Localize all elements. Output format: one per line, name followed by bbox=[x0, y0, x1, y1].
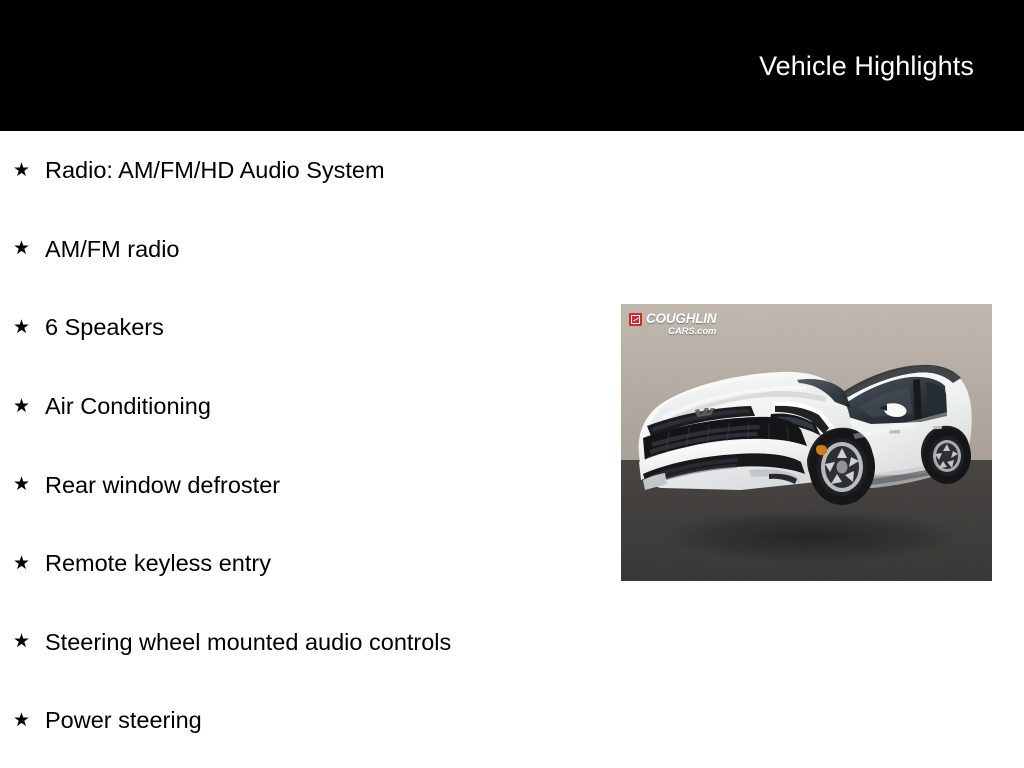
star-bullet-icon: ★ bbox=[13, 554, 45, 573]
star-bullet-icon: ★ bbox=[13, 711, 45, 730]
list-item-label: Rear window defroster bbox=[45, 471, 280, 499]
list-item-label: AM/FM radio bbox=[45, 235, 180, 263]
vehicle-photo-image bbox=[621, 304, 992, 581]
star-bullet-icon: ★ bbox=[13, 318, 45, 337]
star-bullet-icon: ★ bbox=[13, 475, 45, 494]
star-bullet-icon: ★ bbox=[13, 632, 45, 651]
list-item: ★ Radio: AM/FM/HD Audio System bbox=[0, 131, 620, 210]
star-bullet-icon: ★ bbox=[13, 397, 45, 416]
list-item: ★ AM/FM radio bbox=[0, 210, 620, 289]
list-item: ★ Power steering bbox=[0, 681, 620, 760]
list-item: ★ Remote keyless entry bbox=[0, 524, 620, 603]
vehicle-photo: COUGHLIN CARS.com bbox=[621, 304, 992, 581]
star-bullet-icon: ★ bbox=[13, 161, 45, 180]
list-item-label: Radio: AM/FM/HD Audio System bbox=[45, 156, 385, 184]
star-bullet-icon: ★ bbox=[13, 239, 45, 258]
vehicle-highlights-list: ★ Radio: AM/FM/HD Audio System ★ AM/FM r… bbox=[0, 131, 620, 760]
list-item: ★ Steering wheel mounted audio controls bbox=[0, 603, 620, 682]
list-item-label: Remote keyless entry bbox=[45, 549, 271, 577]
header-bar: Vehicle Highlights bbox=[0, 0, 1024, 131]
list-item: ★ Rear window defroster bbox=[0, 445, 620, 524]
page-title: Vehicle Highlights bbox=[759, 50, 974, 82]
list-item: ★ 6 Speakers bbox=[0, 288, 620, 367]
list-item-label: Air Conditioning bbox=[45, 392, 211, 420]
list-item-label: 6 Speakers bbox=[45, 313, 164, 341]
list-item-label: Steering wheel mounted audio controls bbox=[45, 628, 451, 656]
list-item: ★ Air Conditioning bbox=[0, 367, 620, 446]
list-item-label: Power steering bbox=[45, 706, 202, 734]
